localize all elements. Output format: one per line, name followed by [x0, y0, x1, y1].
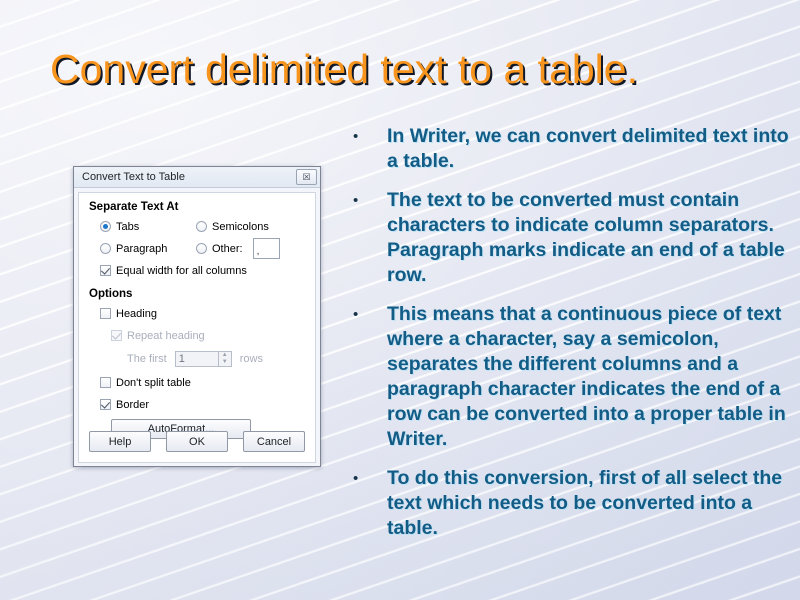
- radio-paragraph-label: Paragraph: [116, 243, 167, 255]
- list-item: • In Writer, we can convert delimited te…: [348, 124, 796, 174]
- radio-tabs-indicator: [100, 221, 111, 232]
- the-first-rows-row: The first 1 ▲ ▼ rows: [89, 350, 305, 368]
- cancel-button[interactable]: Cancel: [243, 431, 305, 452]
- bullet-text: The text to be converted must contain ch…: [387, 188, 796, 288]
- checkbox-border-indicator: [100, 399, 111, 410]
- radio-other-label: Other:: [212, 243, 243, 255]
- slide-title: Convert delimited text to a table.: [50, 46, 770, 93]
- checkbox-border-label: Border: [116, 399, 149, 411]
- radio-semicolons[interactable]: Semicolons: [196, 221, 292, 233]
- slide-canvas: Convert delimited text to a table. • In …: [0, 0, 800, 600]
- checkbox-equal-width[interactable]: Equal width for all columns: [89, 265, 247, 277]
- options-group-label: Options: [89, 288, 305, 300]
- list-item: • To do this conversion, first of all se…: [348, 466, 796, 541]
- dialog-content: Separate Text At Tabs Semicolons Paragra…: [78, 192, 316, 463]
- separate-text-at-group-label: Separate Text At: [89, 201, 305, 213]
- separator-radio-row-1: Tabs Semicolons: [89, 219, 305, 234]
- checkbox-repeat-heading: Repeat heading: [89, 330, 205, 342]
- rows-unit-label: rows: [240, 353, 263, 365]
- checkbox-heading-indicator: [100, 308, 111, 319]
- checkbox-repeat-heading-indicator: [111, 330, 122, 341]
- stepper-down-icon[interactable]: ▼: [219, 359, 231, 366]
- other-separator-input[interactable]: ,: [253, 238, 280, 259]
- radio-tabs[interactable]: Tabs: [89, 221, 196, 233]
- close-icon[interactable]: ☒: [296, 169, 317, 185]
- dialog-titlebar: Convert Text to Table ☒: [74, 167, 320, 188]
- radio-paragraph-indicator: [100, 243, 111, 254]
- checkbox-equal-width-indicator: [100, 265, 111, 276]
- dialog-button-bar: Help OK Cancel: [89, 431, 305, 452]
- checkbox-dont-split-table-label: Don't split table: [116, 377, 191, 389]
- rows-input[interactable]: 1: [175, 351, 219, 367]
- separator-radio-row-2: Paragraph Other: ,: [89, 241, 305, 256]
- bullet-text: To do this conversion, first of all sele…: [387, 466, 796, 541]
- radio-paragraph[interactable]: Paragraph: [89, 243, 196, 255]
- checkbox-equal-width-label: Equal width for all columns: [116, 265, 247, 277]
- checkbox-repeat-heading-label: Repeat heading: [127, 330, 205, 342]
- bullet-point-icon: •: [348, 124, 387, 149]
- radio-other-indicator: [196, 243, 207, 254]
- dialog-title: Convert Text to Table: [82, 171, 296, 183]
- rows-stepper-buttons[interactable]: ▲ ▼: [219, 351, 232, 367]
- help-button[interactable]: Help: [89, 431, 151, 452]
- rows-stepper-group: The first 1 ▲ ▼ rows: [89, 351, 263, 367]
- stepper-up-icon[interactable]: ▲: [219, 352, 231, 359]
- dont-split-table-row: Don't split table: [89, 375, 305, 390]
- list-item: • The text to be converted must contain …: [348, 188, 796, 288]
- repeat-heading-row: Repeat heading: [89, 328, 305, 343]
- checkbox-dont-split-table-indicator: [100, 377, 111, 388]
- border-row: Border: [89, 397, 305, 412]
- bullet-point-icon: •: [348, 466, 387, 491]
- convert-text-to-table-dialog: Convert Text to Table ☒ Separate Text At…: [73, 166, 321, 467]
- the-first-label: The first: [127, 353, 167, 365]
- bullet-text: This means that a continuous piece of te…: [387, 302, 796, 452]
- checkbox-heading-label: Heading: [116, 308, 157, 320]
- checkbox-border[interactable]: Border: [89, 399, 149, 411]
- bullet-text: In Writer, we can convert delimited text…: [387, 124, 796, 174]
- checkbox-dont-split-table[interactable]: Don't split table: [89, 377, 191, 389]
- checkbox-heading[interactable]: Heading: [89, 308, 157, 320]
- ok-button[interactable]: OK: [166, 431, 228, 452]
- bullet-list: • In Writer, we can convert delimited te…: [348, 124, 796, 555]
- radio-semicolons-label: Semicolons: [212, 221, 269, 233]
- radio-tabs-label: Tabs: [116, 221, 139, 233]
- bullet-point-icon: •: [348, 188, 387, 213]
- bullet-point-icon: •: [348, 302, 387, 327]
- equal-width-row: Equal width for all columns: [89, 263, 305, 278]
- list-item: • This means that a continuous piece of …: [348, 302, 796, 452]
- radio-other[interactable]: Other:: [196, 243, 243, 255]
- heading-row: Heading: [89, 306, 305, 321]
- radio-semicolons-indicator: [196, 221, 207, 232]
